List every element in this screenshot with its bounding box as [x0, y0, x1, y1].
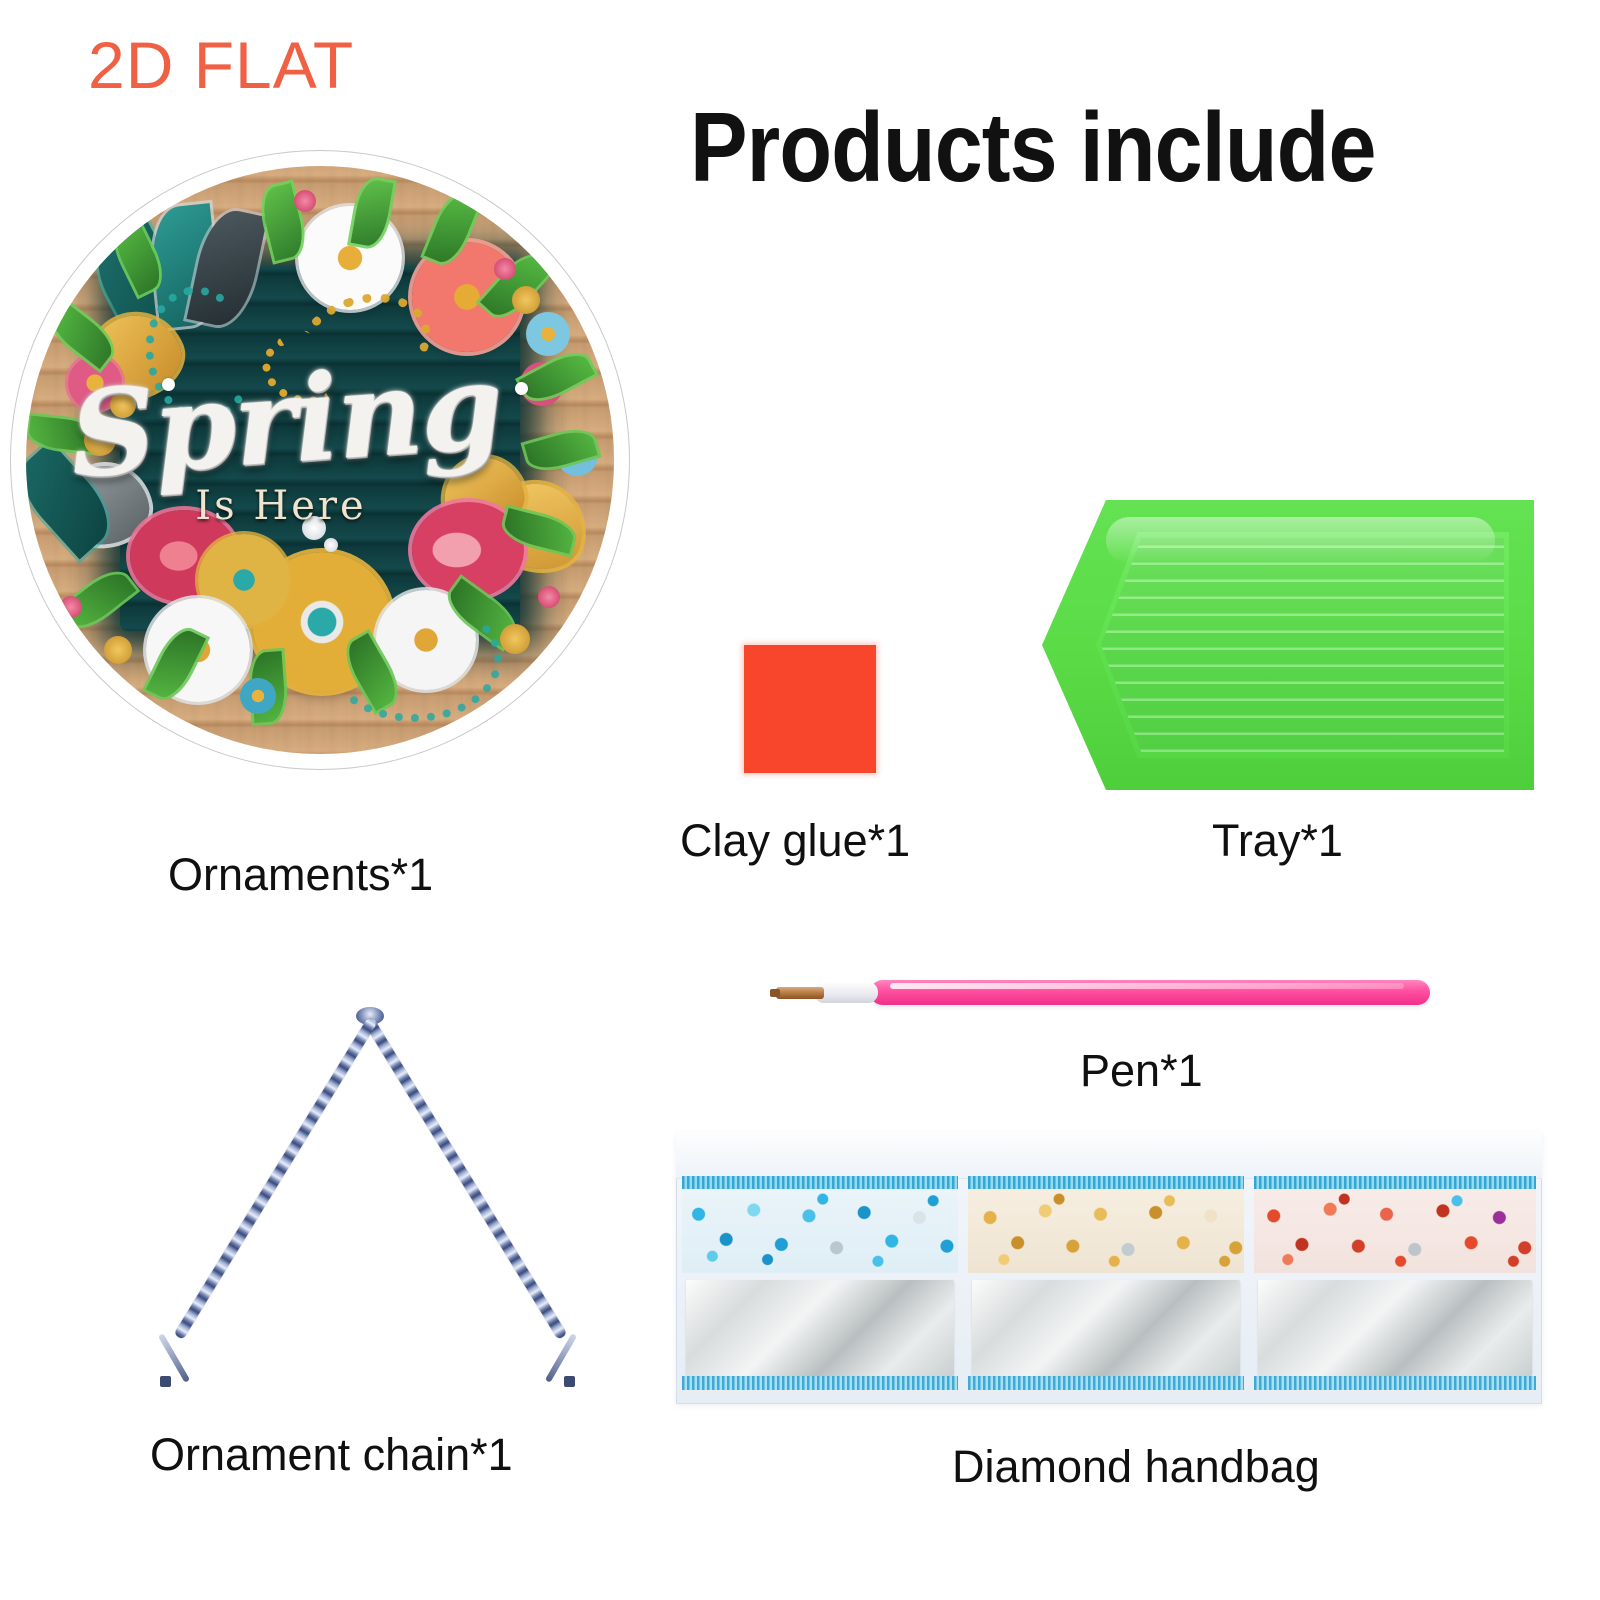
pen-tip-end: [770, 989, 780, 997]
pen-icon: [740, 968, 1430, 1020]
bag-compartment: [682, 1176, 958, 1398]
chain-end-cap-left: [160, 1376, 171, 1387]
disc-face: Spring Is Here: [26, 166, 614, 754]
tray-highlight: [1106, 517, 1495, 563]
compartment-foil-label: [972, 1280, 1240, 1376]
ornament-disc: Spring Is Here: [10, 150, 630, 770]
ornament-script-text: Spring: [66, 347, 493, 494]
compartment-foil-label: [1258, 1280, 1532, 1376]
pen-caption: Pen*1: [1080, 1048, 1203, 1093]
tray-grooves: [1101, 538, 1504, 753]
ornament-chain-caption: Ornament chain*1: [150, 1432, 513, 1477]
compartment-seal: [968, 1176, 1244, 1189]
diamond-handbag-caption: Diamond handbag: [952, 1444, 1320, 1489]
ornament-sub-text: Is Here: [146, 486, 416, 526]
bag-compartment: [1254, 1176, 1536, 1398]
badge-2d-flat: 2D FLAT: [88, 32, 354, 98]
compartment-gems-blue: [682, 1189, 958, 1273]
compartment-foil-label: [686, 1280, 954, 1376]
compartment-bottom-seal: [968, 1376, 1244, 1390]
tray-caption: Tray*1: [1212, 818, 1343, 863]
chain-strand-right: [174, 1017, 378, 1340]
compartment-gems-red: [1254, 1189, 1536, 1273]
ornament-chain-icon: [140, 995, 600, 1395]
bag-compartment: [968, 1176, 1244, 1398]
chain-end-cap-right: [564, 1376, 575, 1387]
bag-top-fold: [676, 1132, 1542, 1179]
compartment-seal: [682, 1176, 958, 1189]
compartment-bottom-seal: [1254, 1376, 1536, 1390]
clay-glue-caption: Clay glue*1: [680, 818, 910, 863]
clay-glue-icon: [744, 645, 876, 773]
diamond-handbag-icon: [676, 1132, 1542, 1404]
hanging-hole-right: [515, 382, 528, 395]
ornaments-caption: Ornaments*1: [168, 852, 433, 897]
pen-highlight: [890, 983, 1404, 989]
pen-tip: [776, 987, 824, 999]
page-title: Products include: [690, 98, 1376, 196]
hanging-hole-left: [162, 378, 175, 391]
compartment-gems-gold: [968, 1189, 1244, 1273]
compartment-bottom-seal: [682, 1376, 958, 1390]
tray-icon: [1042, 500, 1534, 790]
chain-strand-left: [364, 1017, 568, 1340]
compartment-seal: [1254, 1176, 1536, 1189]
